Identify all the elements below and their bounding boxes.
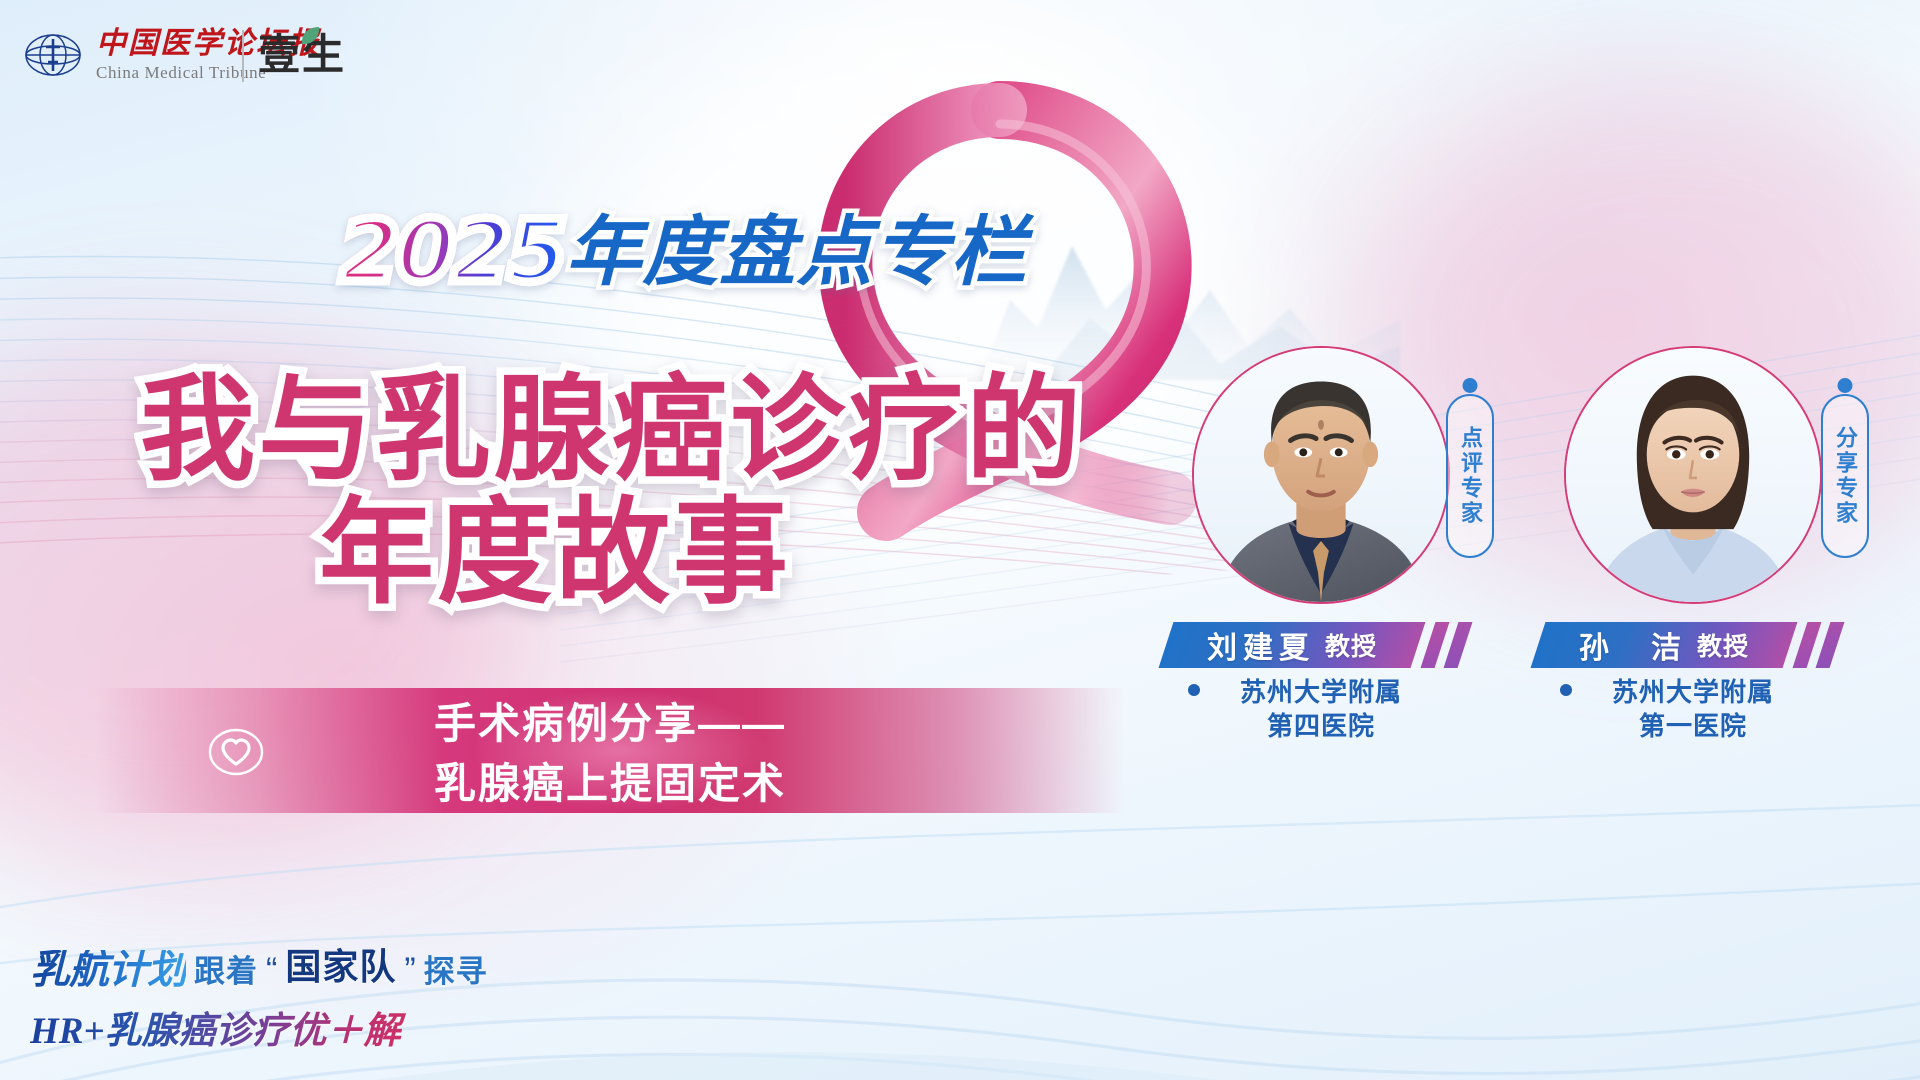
subtitle-line2: 乳腺癌上提固定术	[330, 754, 890, 814]
globe-icon	[24, 29, 82, 81]
program-mark: 乳航计划	[30, 950, 186, 990]
heart-in-circle-icon	[205, 722, 267, 780]
expert-1-photo-wrap	[1192, 346, 1450, 604]
page-title-line1: 我与乳腺癌诊疗的	[140, 372, 1140, 489]
expert-2-title: 教授	[1697, 627, 1749, 663]
column-label: 年度盘点专栏	[565, 216, 1027, 292]
page-title-line2: 年度故事	[140, 495, 970, 612]
expert-1-name-banner: 刘建夏 教授	[1166, 622, 1476, 668]
expert-card-2: 分享专家 孙 洁 教授 苏州大学附属 第一医院	[1538, 346, 1848, 744]
name-banner-stripe-2	[1444, 622, 1473, 668]
badge-dot-icon	[1463, 378, 1478, 393]
expert-2-name: 孙 洁	[1579, 623, 1687, 667]
portrait-male-expert-icon	[1194, 348, 1448, 602]
expert-1-role-badge: 点评专家	[1446, 394, 1494, 558]
badge-dot-icon	[1838, 378, 1853, 393]
column-header: 2025 年度盘点专栏	[340, 212, 1027, 293]
expert-2-affiliation: 苏州大学附属 第一医院	[1538, 675, 1848, 744]
bullet-icon	[1560, 684, 1572, 696]
expert-1-name-row: 刘建夏 教授	[1166, 622, 1418, 668]
expert-2-role-badge: 分享专家	[1821, 394, 1869, 558]
program-national-team: 国家队	[285, 938, 396, 990]
expert-2-affiliation-line1: 苏州大学附属	[1538, 675, 1848, 709]
logo-divider	[242, 30, 244, 82]
program-tagline: HR+乳腺癌诊疗优＋解	[30, 1000, 550, 1054]
expert-1-title: 教授	[1325, 627, 1377, 663]
expert-1-affiliation-line2: 第四医院	[1166, 709, 1476, 743]
column-year: 2025	[340, 212, 563, 293]
expert-card-1: 点评专家 刘建夏 教授 苏州大学附属 第四医院	[1166, 346, 1476, 744]
program-branding-row1: 乳航计划 跟着 “ 国家队 ” 探寻	[30, 938, 550, 990]
quote-open: “	[266, 951, 277, 990]
portrait-female-expert-icon	[1566, 348, 1820, 602]
expert-1-affiliation-line1: 苏州大学附属	[1166, 675, 1476, 709]
expert-2-name-row: 孙 洁 教授	[1538, 622, 1790, 668]
quote-close: ”	[404, 951, 415, 990]
name-banner-stripe-2	[1816, 622, 1845, 668]
program-branding: 乳航计划 跟着 “ 国家队 ” 探寻 HR+乳腺癌诊疗优＋解	[30, 938, 550, 1054]
avatar	[1564, 346, 1822, 604]
subtitle-line1: 手术病例分享——	[330, 694, 890, 754]
expert-1-name: 刘建夏	[1207, 623, 1315, 667]
expert-2-name-banner: 孙 洁 教授	[1538, 622, 1848, 668]
expert-2-affiliation-line2: 第一医院	[1538, 709, 1848, 743]
expert-1-affiliation: 苏州大学附属 第四医院	[1166, 675, 1476, 744]
program-follow-suffix: 探寻	[424, 956, 488, 990]
avatar	[1192, 346, 1450, 604]
expert-1-role-label: 点评专家	[1459, 426, 1481, 526]
leaf-icon	[300, 26, 320, 48]
bullet-icon	[1188, 684, 1200, 696]
subtitle-text: 手术病例分享—— 乳腺癌上提固定术	[330, 694, 890, 813]
expert-2-role-label: 分享专家	[1834, 426, 1856, 526]
poster-root: 中国医学论坛报 China Medical Tribune 壹生 2025 年度…	[0, 0, 1920, 1080]
expert-2-photo-wrap	[1564, 346, 1822, 604]
program-follow-prefix: 跟着	[194, 956, 258, 990]
page-title: 我与乳腺癌诊疗的 年度故事	[140, 372, 1140, 613]
